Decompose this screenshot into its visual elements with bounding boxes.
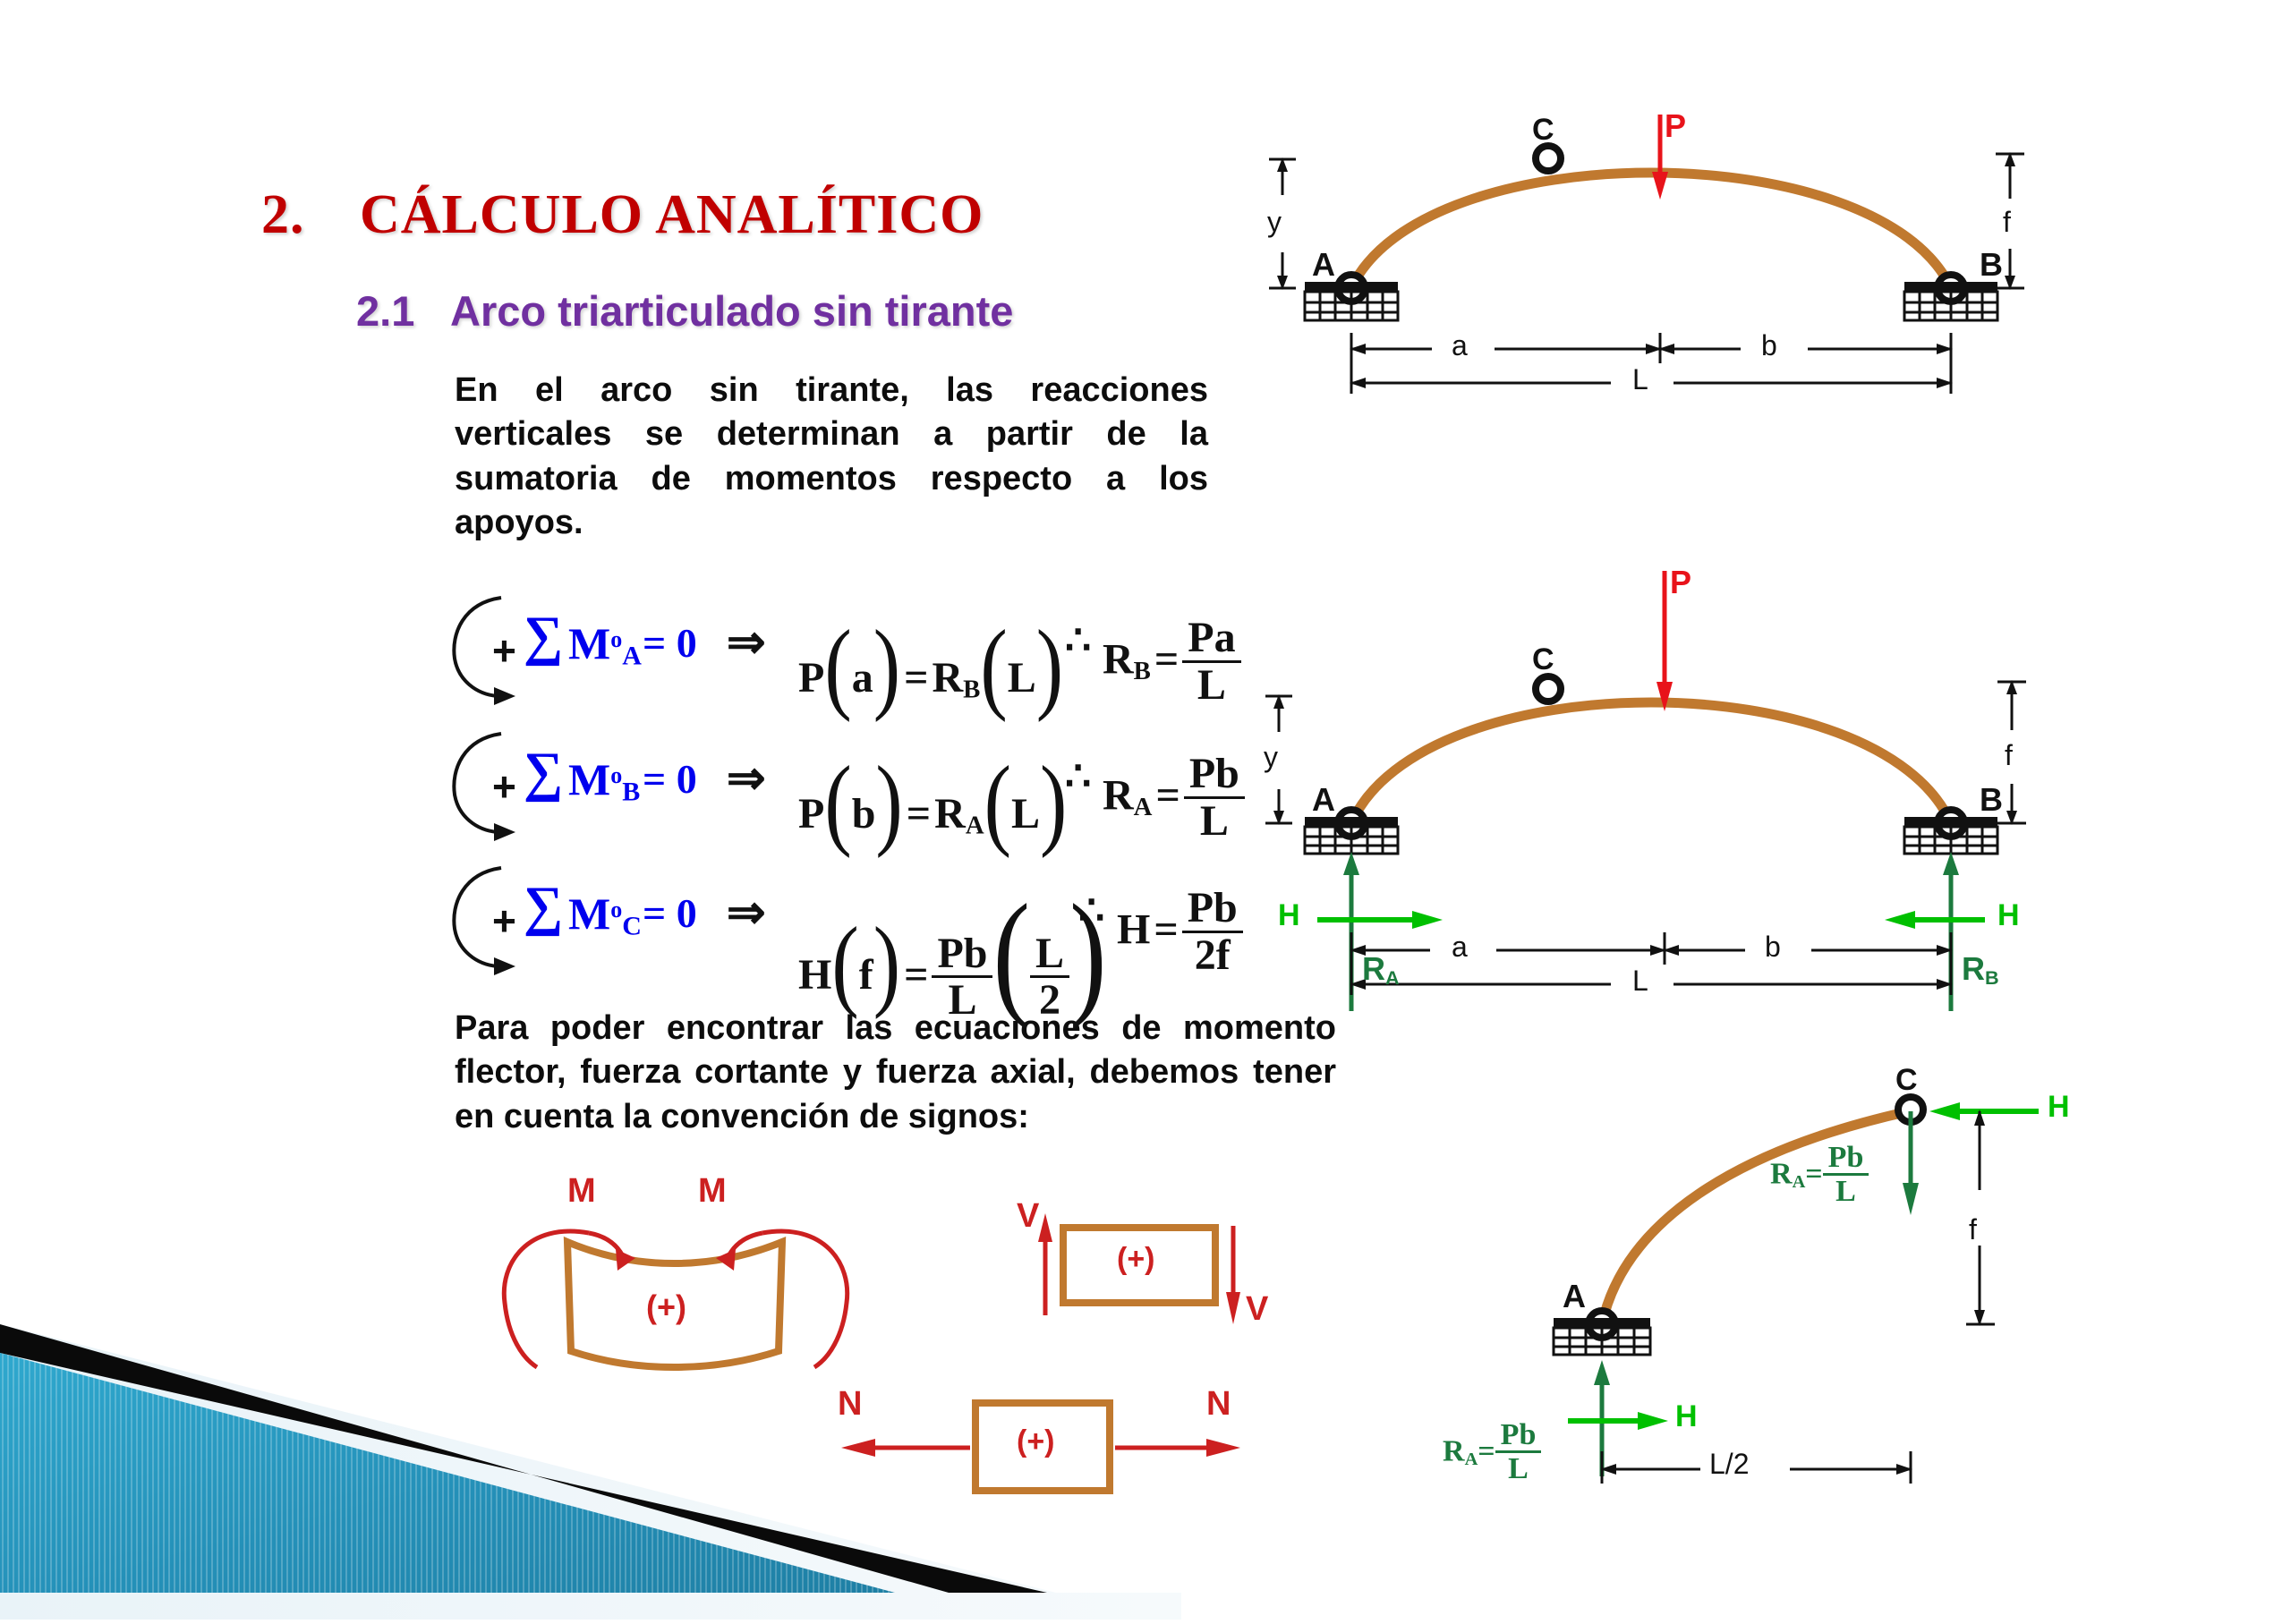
eq2-result-sub: A	[1134, 793, 1153, 821]
dimension-L	[1350, 363, 1953, 394]
reaction-bottom-fraction: PbL	[1495, 1419, 1542, 1485]
paren-open: (	[992, 873, 1030, 1033]
eq1-moment-term: MoA	[568, 617, 642, 672]
dimension-label-L: L	[1632, 363, 1648, 396]
support-a-icon	[1554, 1311, 1650, 1355]
eq3-thrust: H	[798, 951, 831, 999]
section-subtitle-text: Arco triarticulado sin tirante	[450, 287, 1013, 335]
eq1-sign: +	[492, 626, 516, 675]
axial-label-right: N	[1206, 1385, 1231, 1424]
reaction-label-ra: RA	[1362, 950, 1400, 990]
reaction-top-denominator: L	[1823, 1173, 1869, 1207]
shear-label-left: V	[1017, 1197, 1039, 1236]
eq2-moment-sub: B	[622, 778, 640, 807]
reaction-label-h-right: H	[1997, 898, 2020, 933]
paren-close: )	[875, 744, 902, 861]
eq3-thrust-arg: f	[859, 951, 873, 999]
corner-decoration-graphic	[0, 1297, 1181, 1620]
reaction-top-numerator: Pb	[1823, 1142, 1869, 1173]
eq2-load-arg: b	[852, 790, 876, 838]
reaction-formula-top: RA=PbL	[1770, 1144, 1869, 1210]
paren-open: (	[984, 744, 1011, 861]
reaction-top-fraction: PbL	[1823, 1142, 1869, 1208]
moment-label-left: M	[567, 1172, 596, 1211]
node-label-b: B	[1980, 246, 2003, 284]
node-label-a: A	[1312, 781, 1335, 819]
eq3-result-denominator: 2f	[1182, 931, 1243, 978]
dimension-a-b	[1350, 333, 1953, 363]
dimension-label-f: f	[1969, 1213, 1977, 1246]
dimension-label-y: y	[1264, 741, 1278, 774]
eq1-result-denominator: L	[1182, 660, 1240, 708]
eq2-sum-icon: ∑	[524, 744, 563, 800]
eq3-frac2-denominator: 2	[1030, 975, 1069, 1023]
page-title-number: 2.	[261, 183, 360, 247]
eq1-result: RB = PaL	[1103, 617, 1241, 710]
arch-curve	[1351, 702, 1951, 823]
dimension-half-L	[1600, 1451, 1912, 1484]
eq2-relation: P(b) = RA(L)	[798, 753, 1067, 847]
reaction-top-sub: A	[1793, 1172, 1806, 1192]
eq3-sum-icon: ∑	[524, 879, 563, 934]
eq3-relation: H(f) = PbL(L2)	[798, 888, 1107, 1025]
eq1-load-arg: a	[852, 654, 873, 701]
reaction-label-h-top: H	[2048, 1090, 2070, 1125]
reaction-bottom-sub: A	[1465, 1450, 1478, 1469]
eq1-implies-icon: ⇒	[727, 616, 766, 669]
eq1-equals-zero: = 0	[643, 619, 697, 667]
reaction-bottom-denominator: L	[1495, 1450, 1542, 1484]
eq1-sum-icon: ∑	[524, 608, 563, 664]
node-label-c: C	[1532, 113, 1554, 148]
moment-arrowhead-left-icon	[616, 1249, 635, 1271]
moment-arrowhead-right-icon	[716, 1249, 736, 1271]
shear-sign-positive: (+)	[1117, 1242, 1155, 1277]
eq1-result-numerator: Pa	[1182, 616, 1240, 660]
dimension-label-b: b	[1761, 329, 1777, 362]
diagram-medio-arco-AC: C A H H RA=PbL RA=PbL f L/2	[1432, 1056, 2291, 1503]
corner-decoration	[0, 1297, 1181, 1620]
equation-moment-C: + ∑ MoC = 0 ⇒ H(f) = PbL(L2) ∴ H = Pb2f	[447, 861, 1253, 968]
eq2-equals-zero: = 0	[643, 755, 697, 803]
reaction-top-equals: =	[1805, 1158, 1822, 1191]
paren-open: (	[824, 744, 851, 861]
paren-open: (	[824, 608, 851, 725]
reaction-h-bottom-arrow-icon	[1568, 1412, 1668, 1430]
reaction-ra-top-arrow-icon	[1903, 1111, 1919, 1215]
eq3-frac2-numerator: L	[1030, 931, 1069, 976]
diagram-arco-con-reacciones: C A B P H H RA RB y f a b L	[1235, 564, 2291, 1029]
eq3-result-var: H	[1117, 906, 1150, 953]
reaction-rb-sub: B	[1985, 966, 1999, 989]
load-label-p: P	[1665, 107, 1686, 145]
eq1-result-sub: B	[1134, 657, 1151, 685]
eq2-moment-term: MoB	[568, 753, 640, 808]
dimension-label-f: f	[2003, 206, 2011, 239]
reaction-label-h-left: H	[1278, 898, 1300, 933]
reaction-h-left-arrow-icon	[1317, 911, 1443, 929]
eq2-sign: +	[492, 762, 516, 811]
equation-moment-A: + ∑ MoA = 0 ⇒ P(a) = RB(L) ∴ RB = PaL	[447, 591, 1253, 698]
eq3-equals-zero: = 0	[643, 889, 697, 937]
eq3-frac1-denominator: L	[932, 975, 992, 1023]
eq1-result-var: R	[1103, 635, 1134, 683]
load-label-p: P	[1670, 564, 1691, 601]
reaction-h-right-arrow-icon	[1885, 911, 1985, 929]
eq3-moment-base: M	[568, 889, 610, 939]
paragraph-sign-convention: Para poder encontrar las ecuaciones de m…	[455, 1007, 1336, 1139]
eq2-therefore-icon: ∴	[1065, 752, 1091, 800]
eq3-implies-icon: ⇒	[727, 886, 766, 940]
reaction-ra-var: R	[1362, 950, 1385, 987]
reaction-top-var: R	[1770, 1158, 1793, 1191]
diagram3-canvas	[1432, 1056, 2291, 1503]
eq2-implies-icon: ⇒	[727, 752, 766, 805]
page-title-text: CÁLCULO ANALÍTICO	[360, 184, 984, 245]
node-label-c: C	[1895, 1063, 1918, 1098]
eq1-moment-sub: A	[622, 642, 642, 671]
dimension-label-f: f	[2005, 739, 2013, 772]
moment-label-right: M	[698, 1172, 727, 1211]
section-subtitle-number: 2.1	[356, 286, 450, 336]
hinge-c-icon	[1536, 146, 1561, 171]
node-label-a: A	[1563, 1278, 1586, 1315]
reaction-rb-var: R	[1962, 950, 1985, 987]
eq2-result-var: R	[1103, 771, 1134, 819]
arch-curve	[1351, 173, 1951, 288]
eq1-reaction: R	[932, 654, 963, 701]
paren-close: )	[873, 608, 900, 725]
eq3-moment-sup: o	[610, 897, 622, 923]
shear-arrow-right-icon	[1226, 1226, 1240, 1324]
eq2-load: P	[798, 790, 824, 838]
paren-close: )	[1040, 744, 1067, 861]
eq3-result: H = Pb2f	[1117, 888, 1243, 980]
eq2-reaction-sub: A	[966, 811, 984, 839]
paren-close: )	[873, 905, 900, 1022]
eq1-therefore-icon: ∴	[1065, 616, 1091, 664]
reaction-label-h-bottom: H	[1675, 1399, 1698, 1434]
node-label-c: C	[1532, 642, 1554, 677]
page-title: 2.CÁLCULO ANALÍTICO	[261, 183, 1067, 247]
reaction-bottom-numerator: Pb	[1495, 1419, 1542, 1450]
hinge-c-icon	[1536, 676, 1561, 701]
eq2-reaction-arg: L	[1011, 790, 1040, 838]
eq1-load: P	[798, 654, 824, 701]
eq1-result-fraction: PaL	[1182, 616, 1240, 708]
dimension-label-a: a	[1452, 329, 1468, 362]
paren-close: )	[1036, 608, 1063, 725]
reaction-h-top-arrow-icon	[1929, 1102, 2039, 1120]
dimension-label-half-L: L/2	[1709, 1448, 1749, 1481]
eq3-result-fraction: Pb2f	[1182, 886, 1243, 978]
node-label-a: A	[1312, 246, 1335, 284]
eq1-reaction-arg: L	[1008, 654, 1036, 701]
dimension-label-L: L	[1632, 965, 1648, 998]
dimension-L	[1350, 965, 1953, 995]
eq3-fraction-2: L2	[1030, 931, 1069, 1024]
eq1-moment-base: M	[568, 618, 610, 668]
eq2-reaction: R	[934, 790, 966, 838]
dimension-label-y: y	[1267, 206, 1282, 239]
eq3-therefore-icon: ∴	[1078, 886, 1104, 934]
equation-moment-B: + ∑ MoB = 0 ⇒ P(b) = RA(L) ∴ RA = PbL	[447, 727, 1253, 834]
reaction-label-rb: RB	[1962, 950, 1999, 990]
eq3-moment-term: MoC	[568, 888, 642, 942]
eq3-sign: +	[492, 897, 516, 945]
node-label-b: B	[1980, 781, 2003, 819]
shear-label-right: V	[1246, 1290, 1268, 1329]
section-subtitle: 2.1Arco triarticulado sin tirante	[356, 286, 1251, 336]
paren-open: (	[980, 608, 1007, 725]
eq3-fraction-1: PbL	[932, 931, 992, 1024]
eq2-moment-base: M	[568, 754, 610, 804]
paragraph-intro: En el arco sin tirante, las reacciones v…	[455, 369, 1208, 546]
diagram-arco-triarticulado-cargado: C A B P y f a b L	[1253, 98, 2291, 573]
eq1-moment-sup: o	[610, 626, 622, 652]
eq1-relation: P(a) = RB(L)	[798, 617, 1063, 711]
dimension-a-b	[1350, 932, 1953, 965]
eq3-moment-sub: C	[622, 912, 642, 941]
eq3-frac1-numerator: Pb	[932, 931, 992, 976]
dimension-label-b: b	[1765, 931, 1781, 964]
dimension-label-a: a	[1452, 931, 1468, 964]
eq2-result: RA = PbL	[1103, 753, 1245, 846]
eq2-moment-sup: o	[610, 762, 622, 788]
reaction-ra-sub: A	[1385, 966, 1400, 989]
eq1-reaction-sub: B	[963, 675, 980, 703]
eq3-result-numerator: Pb	[1182, 886, 1243, 931]
reaction-bottom-equals: =	[1478, 1435, 1495, 1468]
reaction-formula-bottom: RA=PbL	[1443, 1421, 1541, 1487]
paren-open: (	[831, 905, 858, 1022]
reaction-bottom-var: R	[1443, 1435, 1465, 1468]
